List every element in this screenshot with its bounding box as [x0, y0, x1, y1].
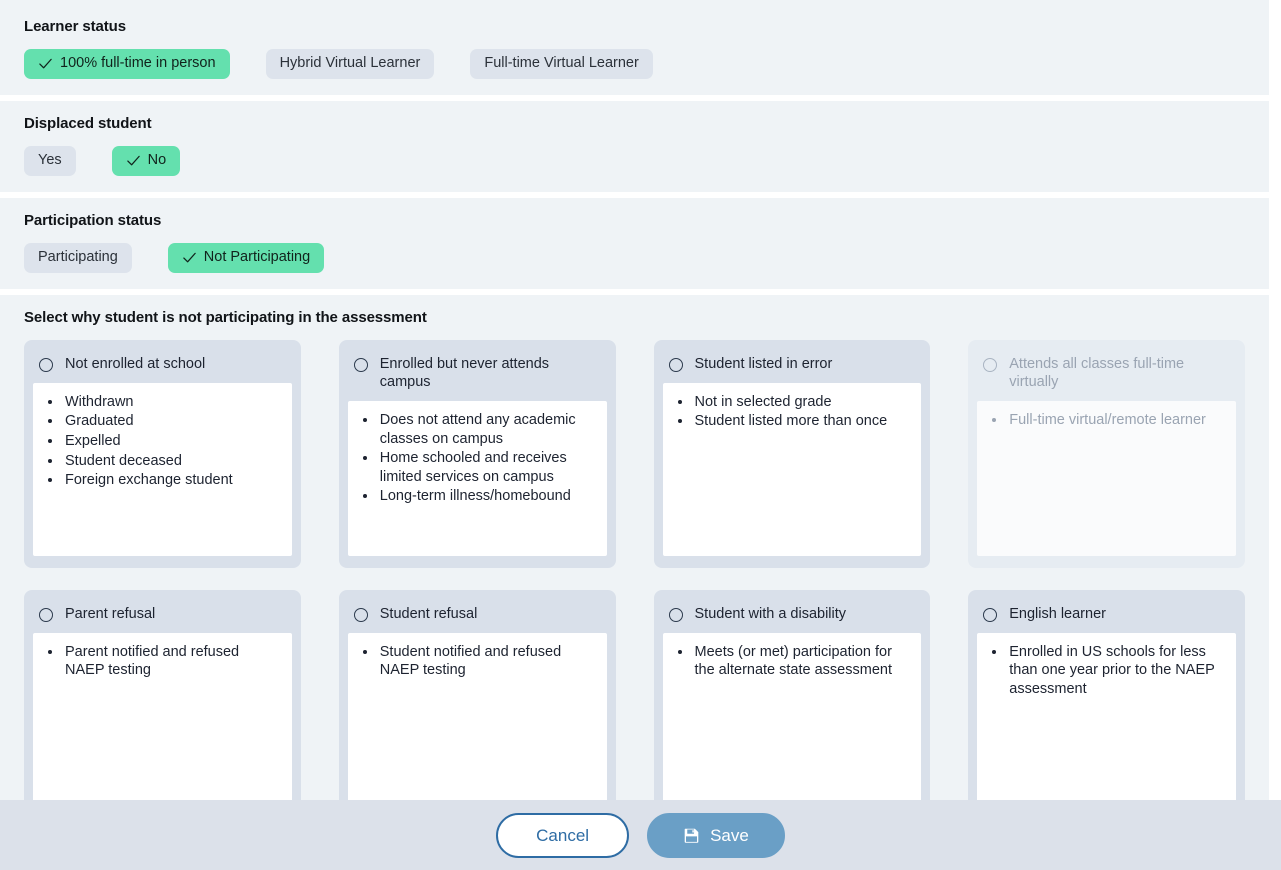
radio-button-icon [983, 358, 997, 372]
displaced-student-options: YesNo [24, 146, 1245, 176]
chip-displaced-student-1[interactable]: No [112, 146, 181, 176]
cancel-button[interactable]: Cancel [496, 813, 629, 858]
reason-card-header: Student refusal [348, 599, 607, 633]
reason-card[interactable]: Not enrolled at schoolWithdrawnGraduated… [24, 340, 301, 568]
reason-bullet-list: Full-time virtual/remote learner [985, 411, 1226, 430]
list-item: Does not attend any academic classes on … [378, 411, 597, 448]
list-item: Full-time virtual/remote learner [1007, 411, 1226, 430]
chip-learner-status-2[interactable]: Full-time Virtual Learner [470, 49, 652, 79]
reason-card-header: English learner [977, 599, 1236, 633]
reason-card-body: WithdrawnGraduatedExpelledStudent deceas… [33, 383, 292, 556]
reason-card-header: Student with a disability [663, 599, 922, 633]
reason-card-header: Not enrolled at school [33, 349, 292, 383]
radio-button-icon[interactable] [983, 608, 997, 622]
reason-card-label: Parent refusal [65, 605, 159, 623]
chip-label: Participating [38, 250, 118, 266]
chip-label: No [148, 153, 167, 169]
reason-card-body: Not in selected gradeStudent listed more… [663, 383, 922, 556]
reason-card[interactable]: English learnerEnrolled in US schools fo… [968, 590, 1245, 818]
reason-card-body: Student notified and refused NAEP testin… [348, 633, 607, 806]
reason-card-label: Student refusal [380, 605, 482, 623]
list-item: Withdrawn [63, 393, 282, 412]
reason-card-body: Enrolled in US schools for less than one… [977, 633, 1236, 806]
participation-status-options: ParticipatingNot Participating [24, 243, 1245, 273]
reason-card-label: Enrolled but never attends campus [380, 355, 603, 391]
radio-button-icon[interactable] [354, 608, 368, 622]
reason-card-header: Student listed in error [663, 349, 922, 383]
section-displaced-student: Displaced studentYesNo [0, 101, 1269, 192]
reason-card-body: Full-time virtual/remote learner [977, 401, 1236, 556]
chip-displaced-student-0[interactable]: Yes [24, 146, 76, 176]
list-item: Long-term illness/homebound [378, 487, 597, 506]
reason-card-header: Attends all classes full-time virtually [977, 349, 1236, 401]
reason-bullet-list: Not in selected gradeStudent listed more… [671, 393, 912, 431]
chip-learner-status-1[interactable]: Hybrid Virtual Learner [266, 49, 435, 79]
section-title: Displaced student [24, 115, 1245, 132]
list-item: Student listed more than once [693, 412, 912, 431]
reason-card-label: Not enrolled at school [65, 355, 209, 373]
list-item: Expelled [63, 432, 282, 451]
reason-card-body: Meets (or met) participation for the alt… [663, 633, 922, 806]
reason-card-label: Student with a disability [695, 605, 851, 623]
list-item: Foreign exchange student [63, 471, 282, 490]
form-scroll-area[interactable]: Learner status100% full-time in personHy… [0, 0, 1281, 870]
student-status-form: Learner status100% full-time in personHy… [0, 0, 1281, 870]
reason-card-body: Parent notified and refused NAEP testing [33, 633, 292, 806]
list-item: Meets (or met) participation for the alt… [693, 643, 912, 680]
save-button-label: Save [710, 827, 749, 844]
reason-card[interactable]: Parent refusalParent notified and refuse… [24, 590, 301, 818]
radio-button-icon[interactable] [354, 358, 368, 372]
list-item: Not in selected grade [693, 393, 912, 412]
chip-label: Yes [38, 153, 62, 169]
check-icon [38, 56, 53, 71]
reason-card-header: Parent refusal [33, 599, 292, 633]
reason-card[interactable]: Student with a disabilityMeets (or met) … [654, 590, 931, 818]
chip-label: Hybrid Virtual Learner [280, 56, 421, 72]
section-title: Learner status [24, 18, 1245, 35]
reason-card-label: English learner [1009, 605, 1110, 623]
list-item: Student deceased [63, 452, 282, 471]
non-participation-reasons-panel: Select why student is not participating … [0, 295, 1269, 834]
chip-label: Full-time Virtual Learner [484, 56, 638, 72]
list-item: Parent notified and refused NAEP testing [63, 643, 282, 680]
reason-card[interactable]: Enrolled but never attends campusDoes no… [339, 340, 616, 568]
reason-bullet-list: Meets (or met) participation for the alt… [671, 643, 912, 680]
reason-bullet-list: Does not attend any academic classes on … [356, 411, 597, 506]
cancel-button-label: Cancel [536, 827, 589, 844]
reason-card-body: Does not attend any academic classes on … [348, 401, 607, 556]
section-title: Participation status [24, 212, 1245, 229]
chip-learner-status-0[interactable]: 100% full-time in person [24, 49, 230, 79]
learner-status-options: 100% full-time in personHybrid Virtual L… [24, 49, 1245, 79]
list-item: Student notified and refused NAEP testin… [378, 643, 597, 680]
reason-card-header: Enrolled but never attends campus [348, 349, 607, 401]
reason-bullet-list: Parent notified and refused NAEP testing [41, 643, 282, 680]
check-icon [182, 250, 197, 265]
radio-button-icon[interactable] [39, 358, 53, 372]
reason-card[interactable]: Student refusalStudent notified and refu… [339, 590, 616, 818]
form-footer: Cancel Save [0, 800, 1281, 870]
chip-participation-status-0[interactable]: Participating [24, 243, 132, 273]
reason-card-label: Student listed in error [695, 355, 837, 373]
reasons-grid: Not enrolled at schoolWithdrawnGraduated… [24, 340, 1245, 818]
reasons-title: Select why student is not participating … [24, 309, 1245, 326]
reason-bullet-list: Student notified and refused NAEP testin… [356, 643, 597, 680]
radio-button-icon[interactable] [669, 358, 683, 372]
chip-label: 100% full-time in person [60, 56, 216, 72]
reason-bullet-list: WithdrawnGraduatedExpelledStudent deceas… [41, 393, 282, 490]
list-item: Enrolled in US schools for less than one… [1007, 643, 1226, 699]
radio-button-icon[interactable] [39, 608, 53, 622]
reason-card[interactable]: Student listed in errorNot in selected g… [654, 340, 931, 568]
reason-bullet-list: Enrolled in US schools for less than one… [985, 643, 1226, 699]
chip-participation-status-1[interactable]: Not Participating [168, 243, 324, 273]
radio-button-icon[interactable] [669, 608, 683, 622]
reason-card-label: Attends all classes full-time virtually [1009, 355, 1232, 391]
check-icon [126, 153, 141, 168]
status-sections: Learner status100% full-time in personHy… [0, 0, 1281, 289]
section-learner-status: Learner status100% full-time in personHy… [0, 0, 1269, 95]
list-item: Home schooled and receives limited servi… [378, 449, 597, 486]
reason-card: Attends all classes full-time virtuallyF… [968, 340, 1245, 568]
chip-label: Not Participating [204, 250, 310, 266]
save-floppy-icon [683, 827, 700, 844]
save-button[interactable]: Save [647, 813, 785, 858]
list-item: Graduated [63, 412, 282, 431]
section-participation-status: Participation statusParticipatingNot Par… [0, 198, 1269, 289]
